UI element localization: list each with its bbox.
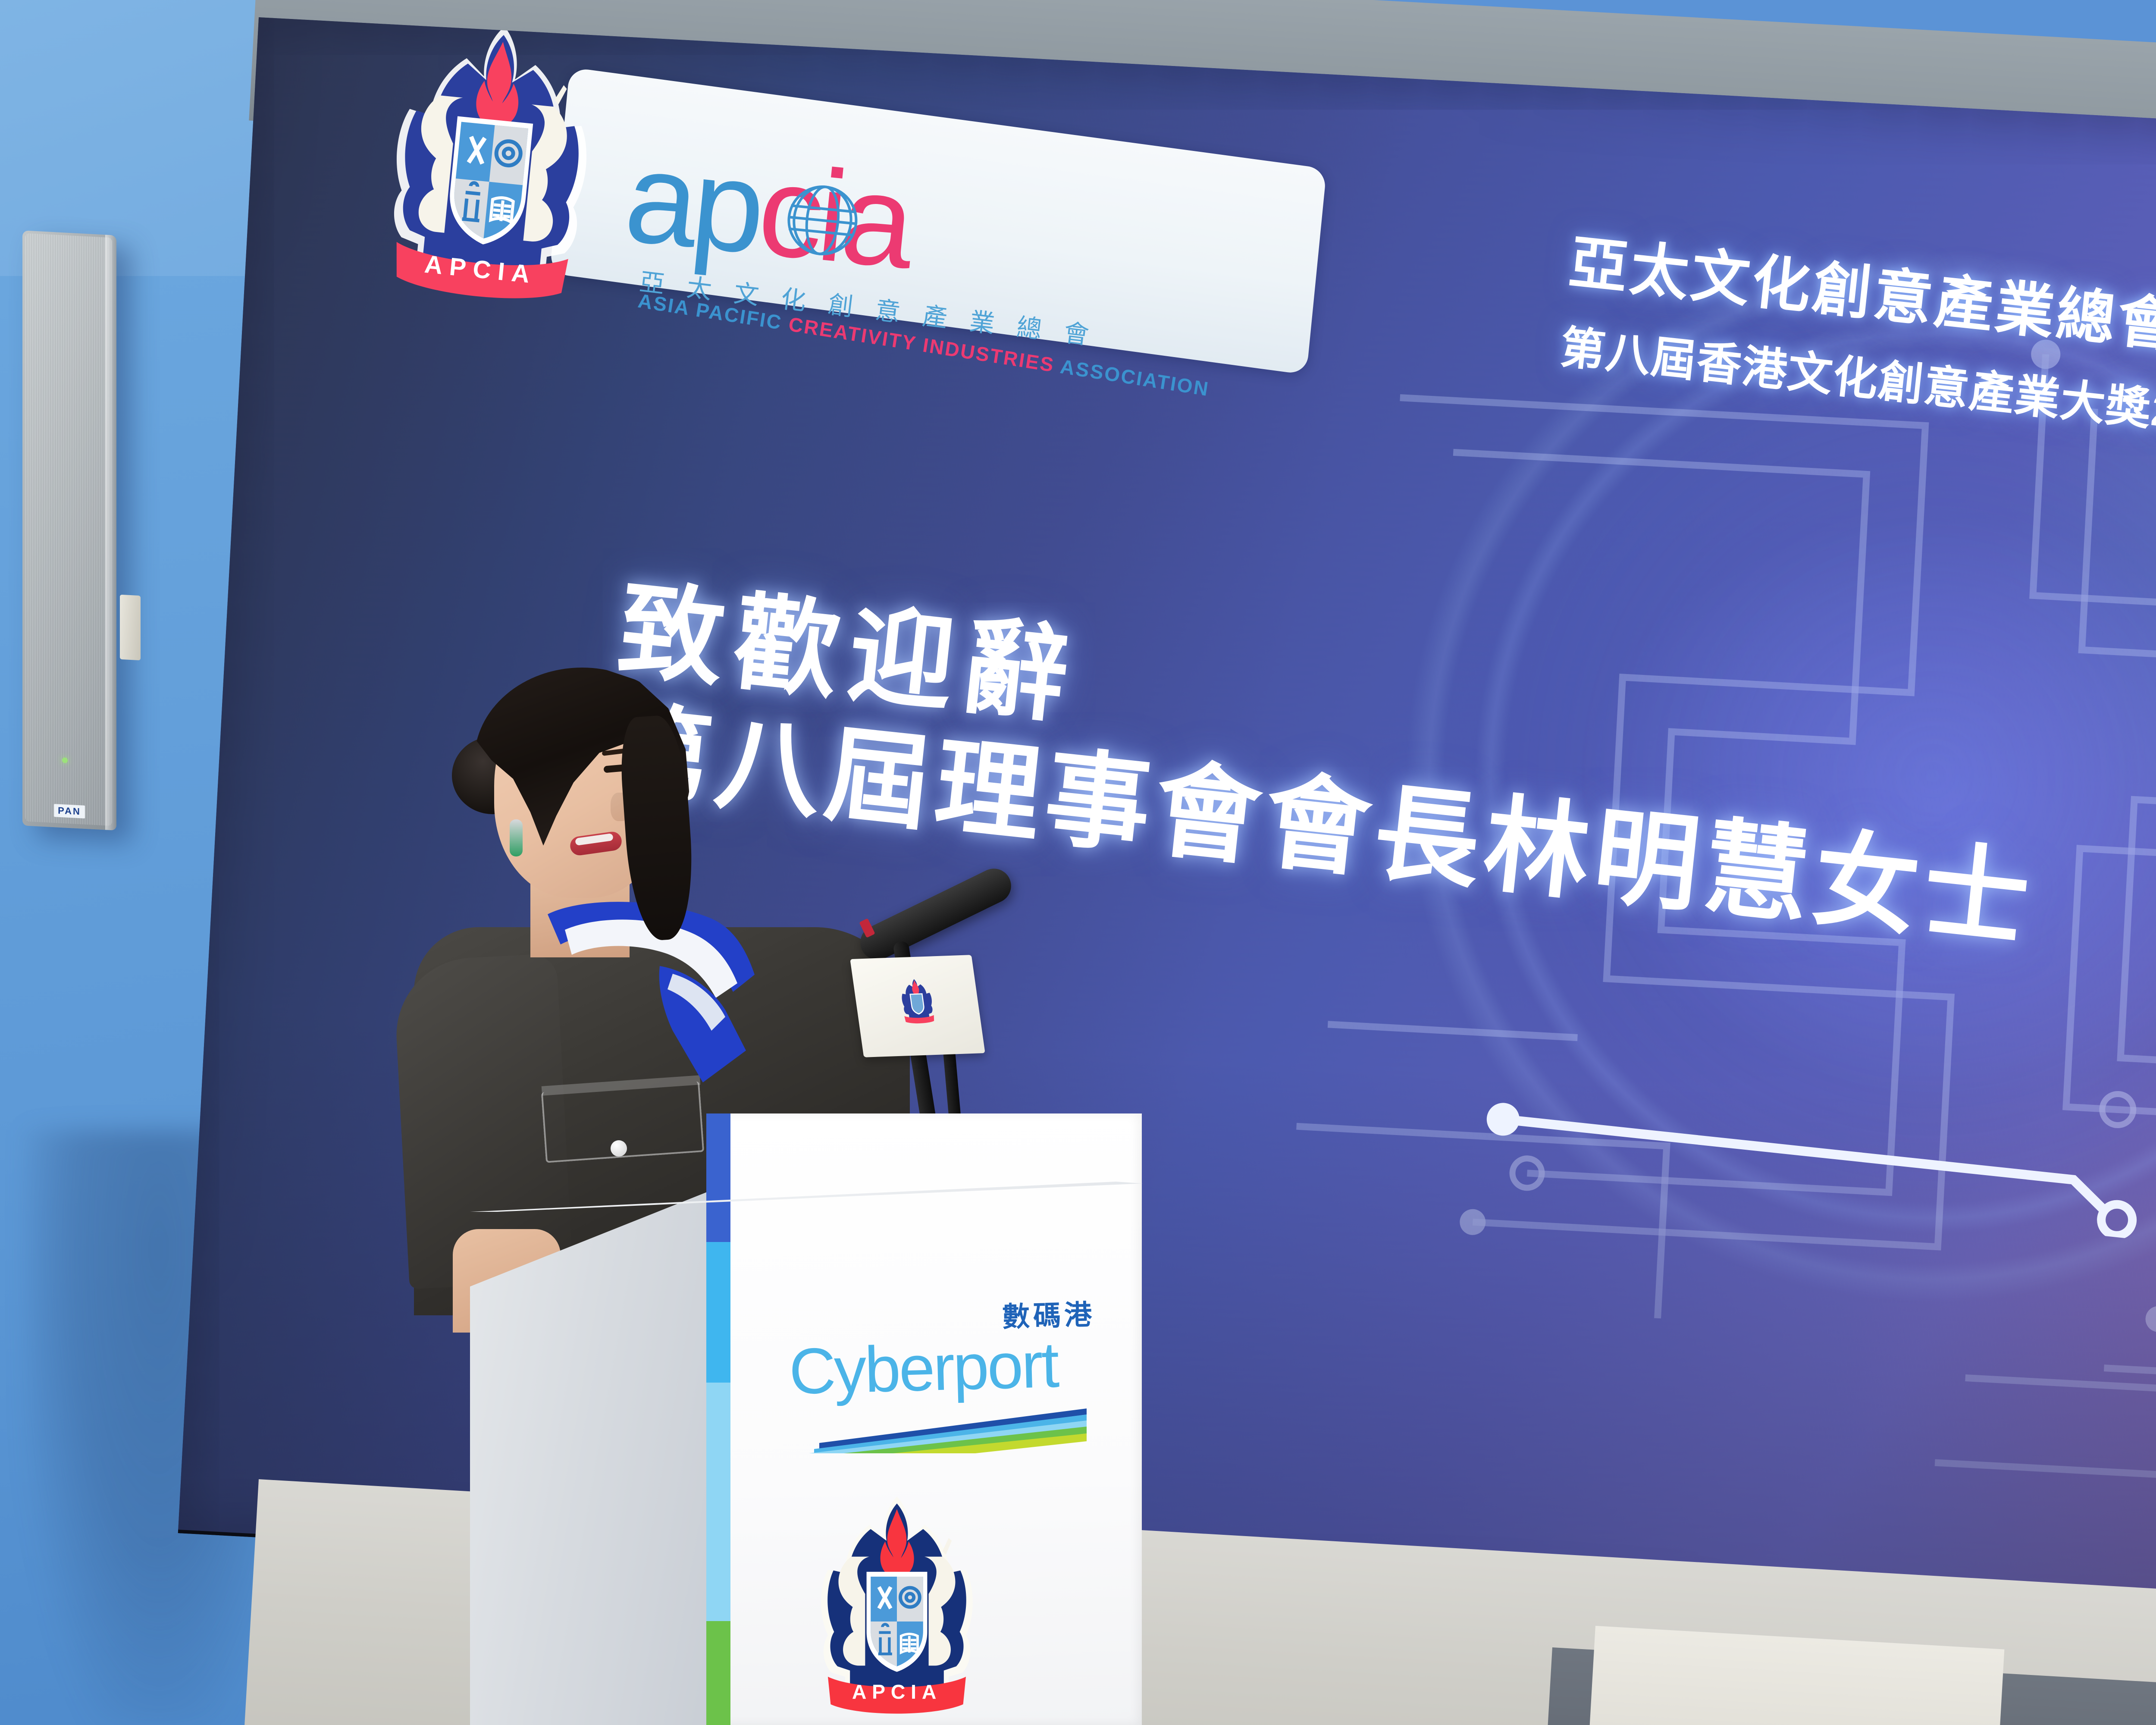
connector-filled-dot [1485, 1101, 1521, 1138]
presenter-earring [510, 819, 523, 856]
svg-text:APCIA: APCIA [852, 1681, 942, 1703]
speaker-power-led [62, 757, 68, 763]
speaker-edge [105, 235, 116, 830]
cyberport-logo: 數碼港 Cyberport [789, 1294, 1100, 1436]
podium: 數碼港 Cyberport [470, 1104, 1177, 1725]
connector-open-dot [2100, 1203, 2134, 1237]
wall-speaker: PAN [22, 230, 116, 830]
podium-apcia-crest-icon: APCIA [772, 1483, 1022, 1725]
photo-stage: PAN [0, 0, 2156, 1725]
podium-color-stripe [706, 1113, 730, 1725]
cyberport-wordmark: Cyberport [788, 1327, 1059, 1409]
apcia-crest-icon: APCIA [339, 17, 644, 324]
mic-flag-crest-icon [850, 955, 985, 1057]
speaker-brand-label: PAN [54, 804, 85, 819]
microphone-flag [850, 955, 985, 1057]
globe-icon [780, 176, 865, 265]
speaker-mount-bracket [120, 595, 141, 661]
podium-side-panel [470, 1190, 711, 1725]
cyberport-swoosh [793, 1402, 1091, 1453]
apcia-wordmark-ap: ap [619, 123, 766, 281]
